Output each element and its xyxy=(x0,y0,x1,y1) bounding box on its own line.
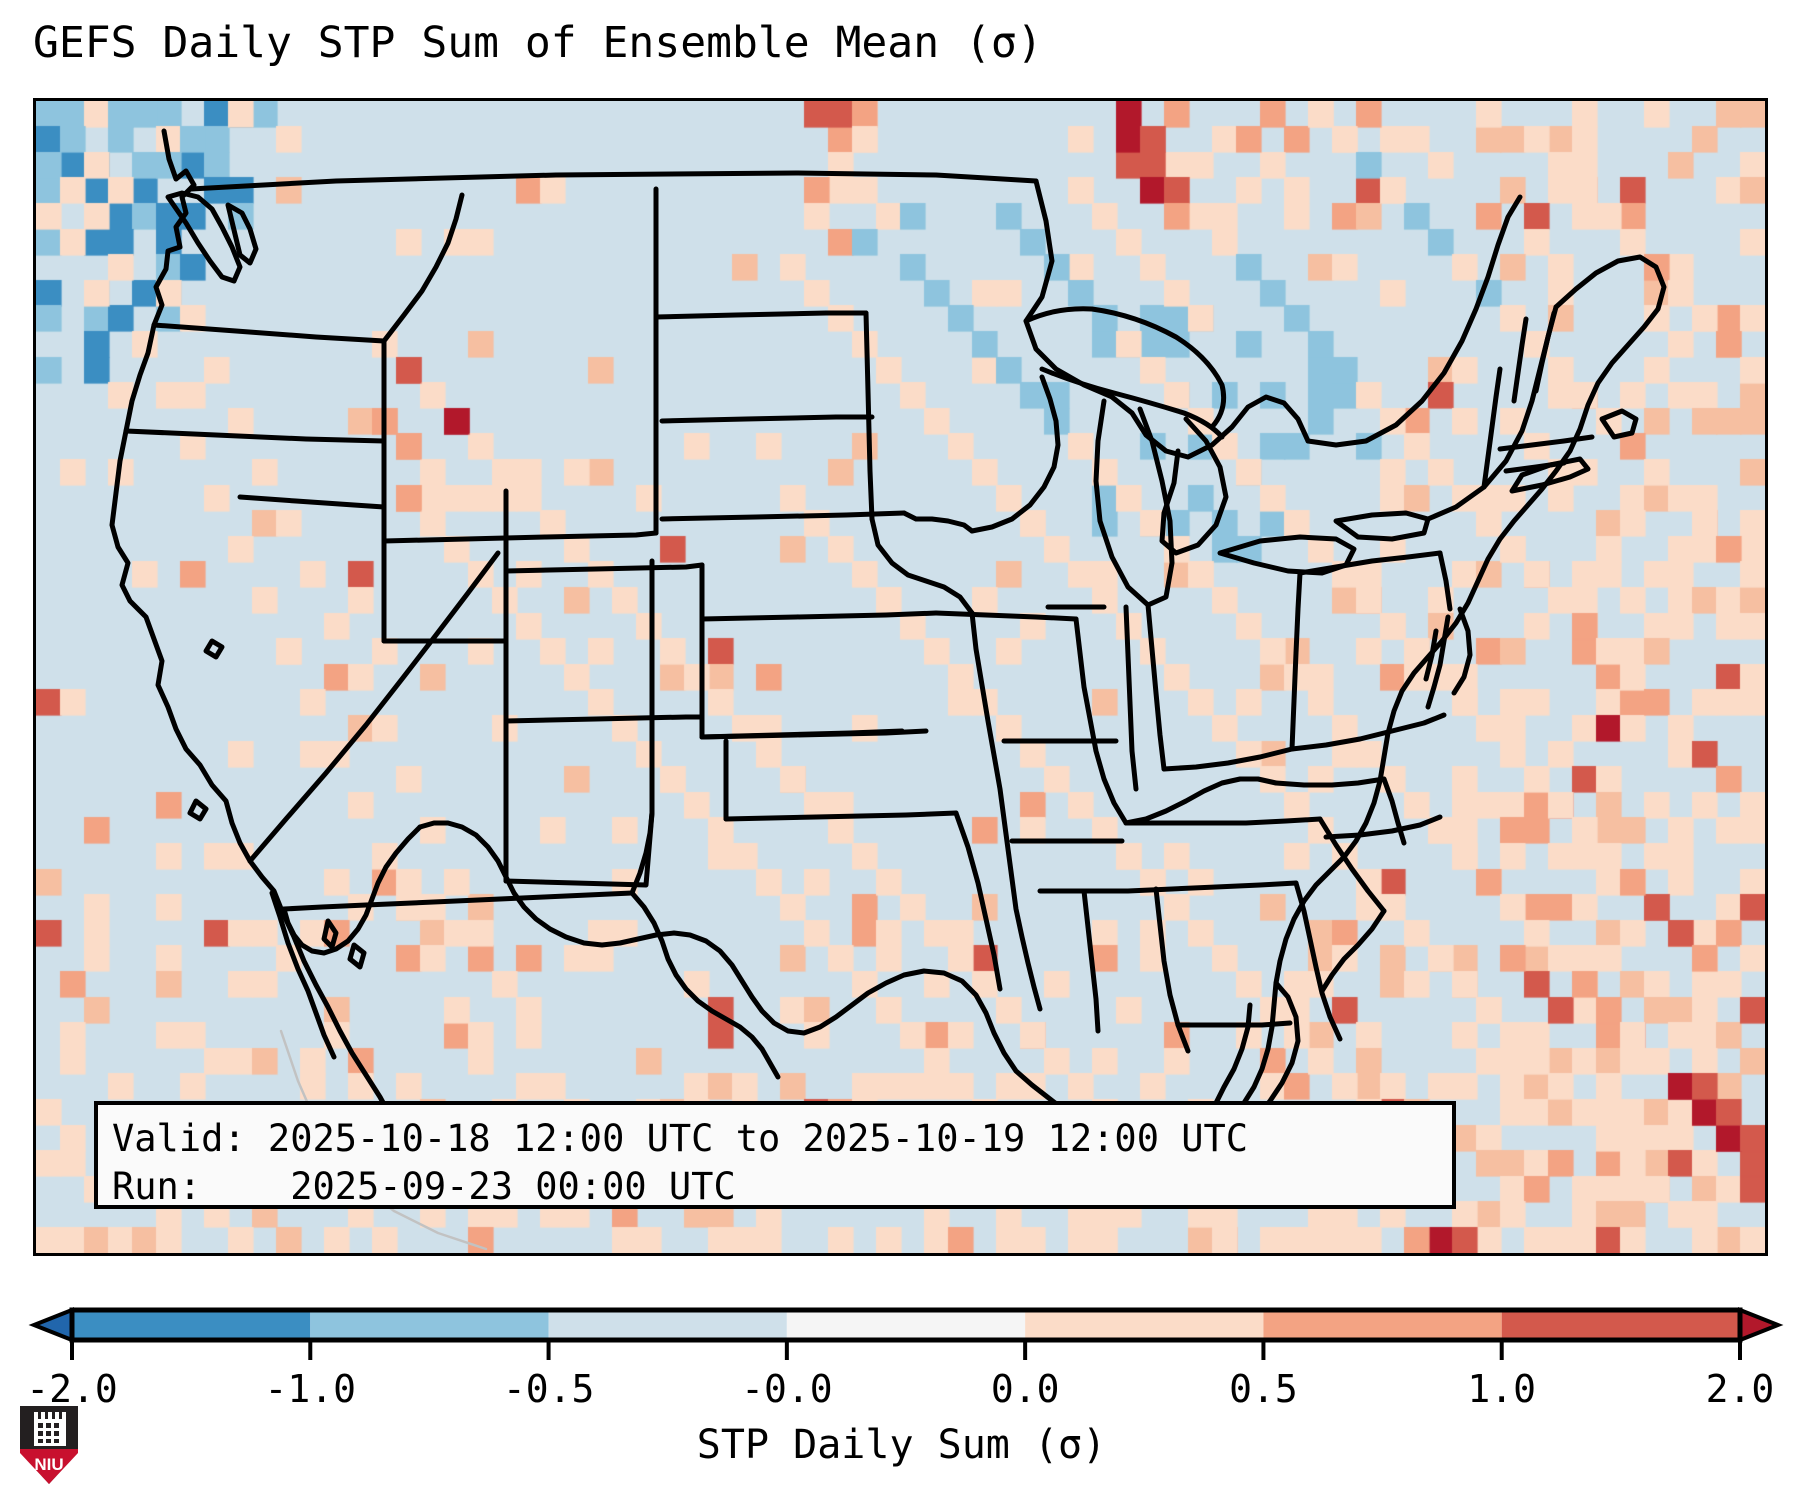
colorbar-band xyxy=(1502,1310,1740,1340)
colorbar-tick-label: 1.0 xyxy=(1467,1367,1536,1411)
colorbar-band xyxy=(1263,1310,1501,1340)
colorbar-under-arrow xyxy=(34,1310,72,1340)
colorbar-tick-label: -0.0 xyxy=(741,1367,833,1411)
geography-overlay xyxy=(36,101,1765,1253)
niu-logo-text: NIU xyxy=(34,1455,63,1474)
page-title: GEFS Daily STP Sum of Ensemble Mean (σ) xyxy=(33,18,1043,68)
colorbar-tick-label: -1.0 xyxy=(265,1367,357,1411)
colorbar-band xyxy=(310,1310,548,1340)
colorbar-band xyxy=(1025,1310,1263,1340)
colorbar-panel[interactable]: -2.0-1.0-0.5-0.00.00.51.02.0 xyxy=(0,1282,1803,1506)
colorbar-tick-label: 0.0 xyxy=(991,1367,1060,1411)
colorbar-band xyxy=(787,1310,1025,1340)
colorbar-tick-label: 0.5 xyxy=(1229,1367,1298,1411)
us-state-and-coast-boundaries xyxy=(112,131,1664,1185)
map-panel[interactable]: Valid: 2025-10-18 12:00 UTC to 2025-10-1… xyxy=(33,98,1768,1256)
colorbar-tick-label: -0.5 xyxy=(503,1367,595,1411)
run-time-line: Run: 2025-09-23 00:00 UTC xyxy=(112,1163,1438,1211)
colorbar-tick-label: 2.0 xyxy=(1706,1367,1775,1411)
colorbar-band xyxy=(549,1310,787,1340)
forecast-info-box: Valid: 2025-10-18 12:00 UTC to 2025-10-1… xyxy=(94,1101,1456,1209)
colorbar-axis-label: STP Daily Sum (σ) xyxy=(0,1422,1803,1468)
niu-logo: NIU xyxy=(18,1404,80,1486)
valid-time-line: Valid: 2025-10-18 12:00 UTC to 2025-10-1… xyxy=(112,1115,1438,1163)
colorbar-over-arrow xyxy=(1740,1310,1778,1340)
colorbar-band xyxy=(72,1310,310,1340)
